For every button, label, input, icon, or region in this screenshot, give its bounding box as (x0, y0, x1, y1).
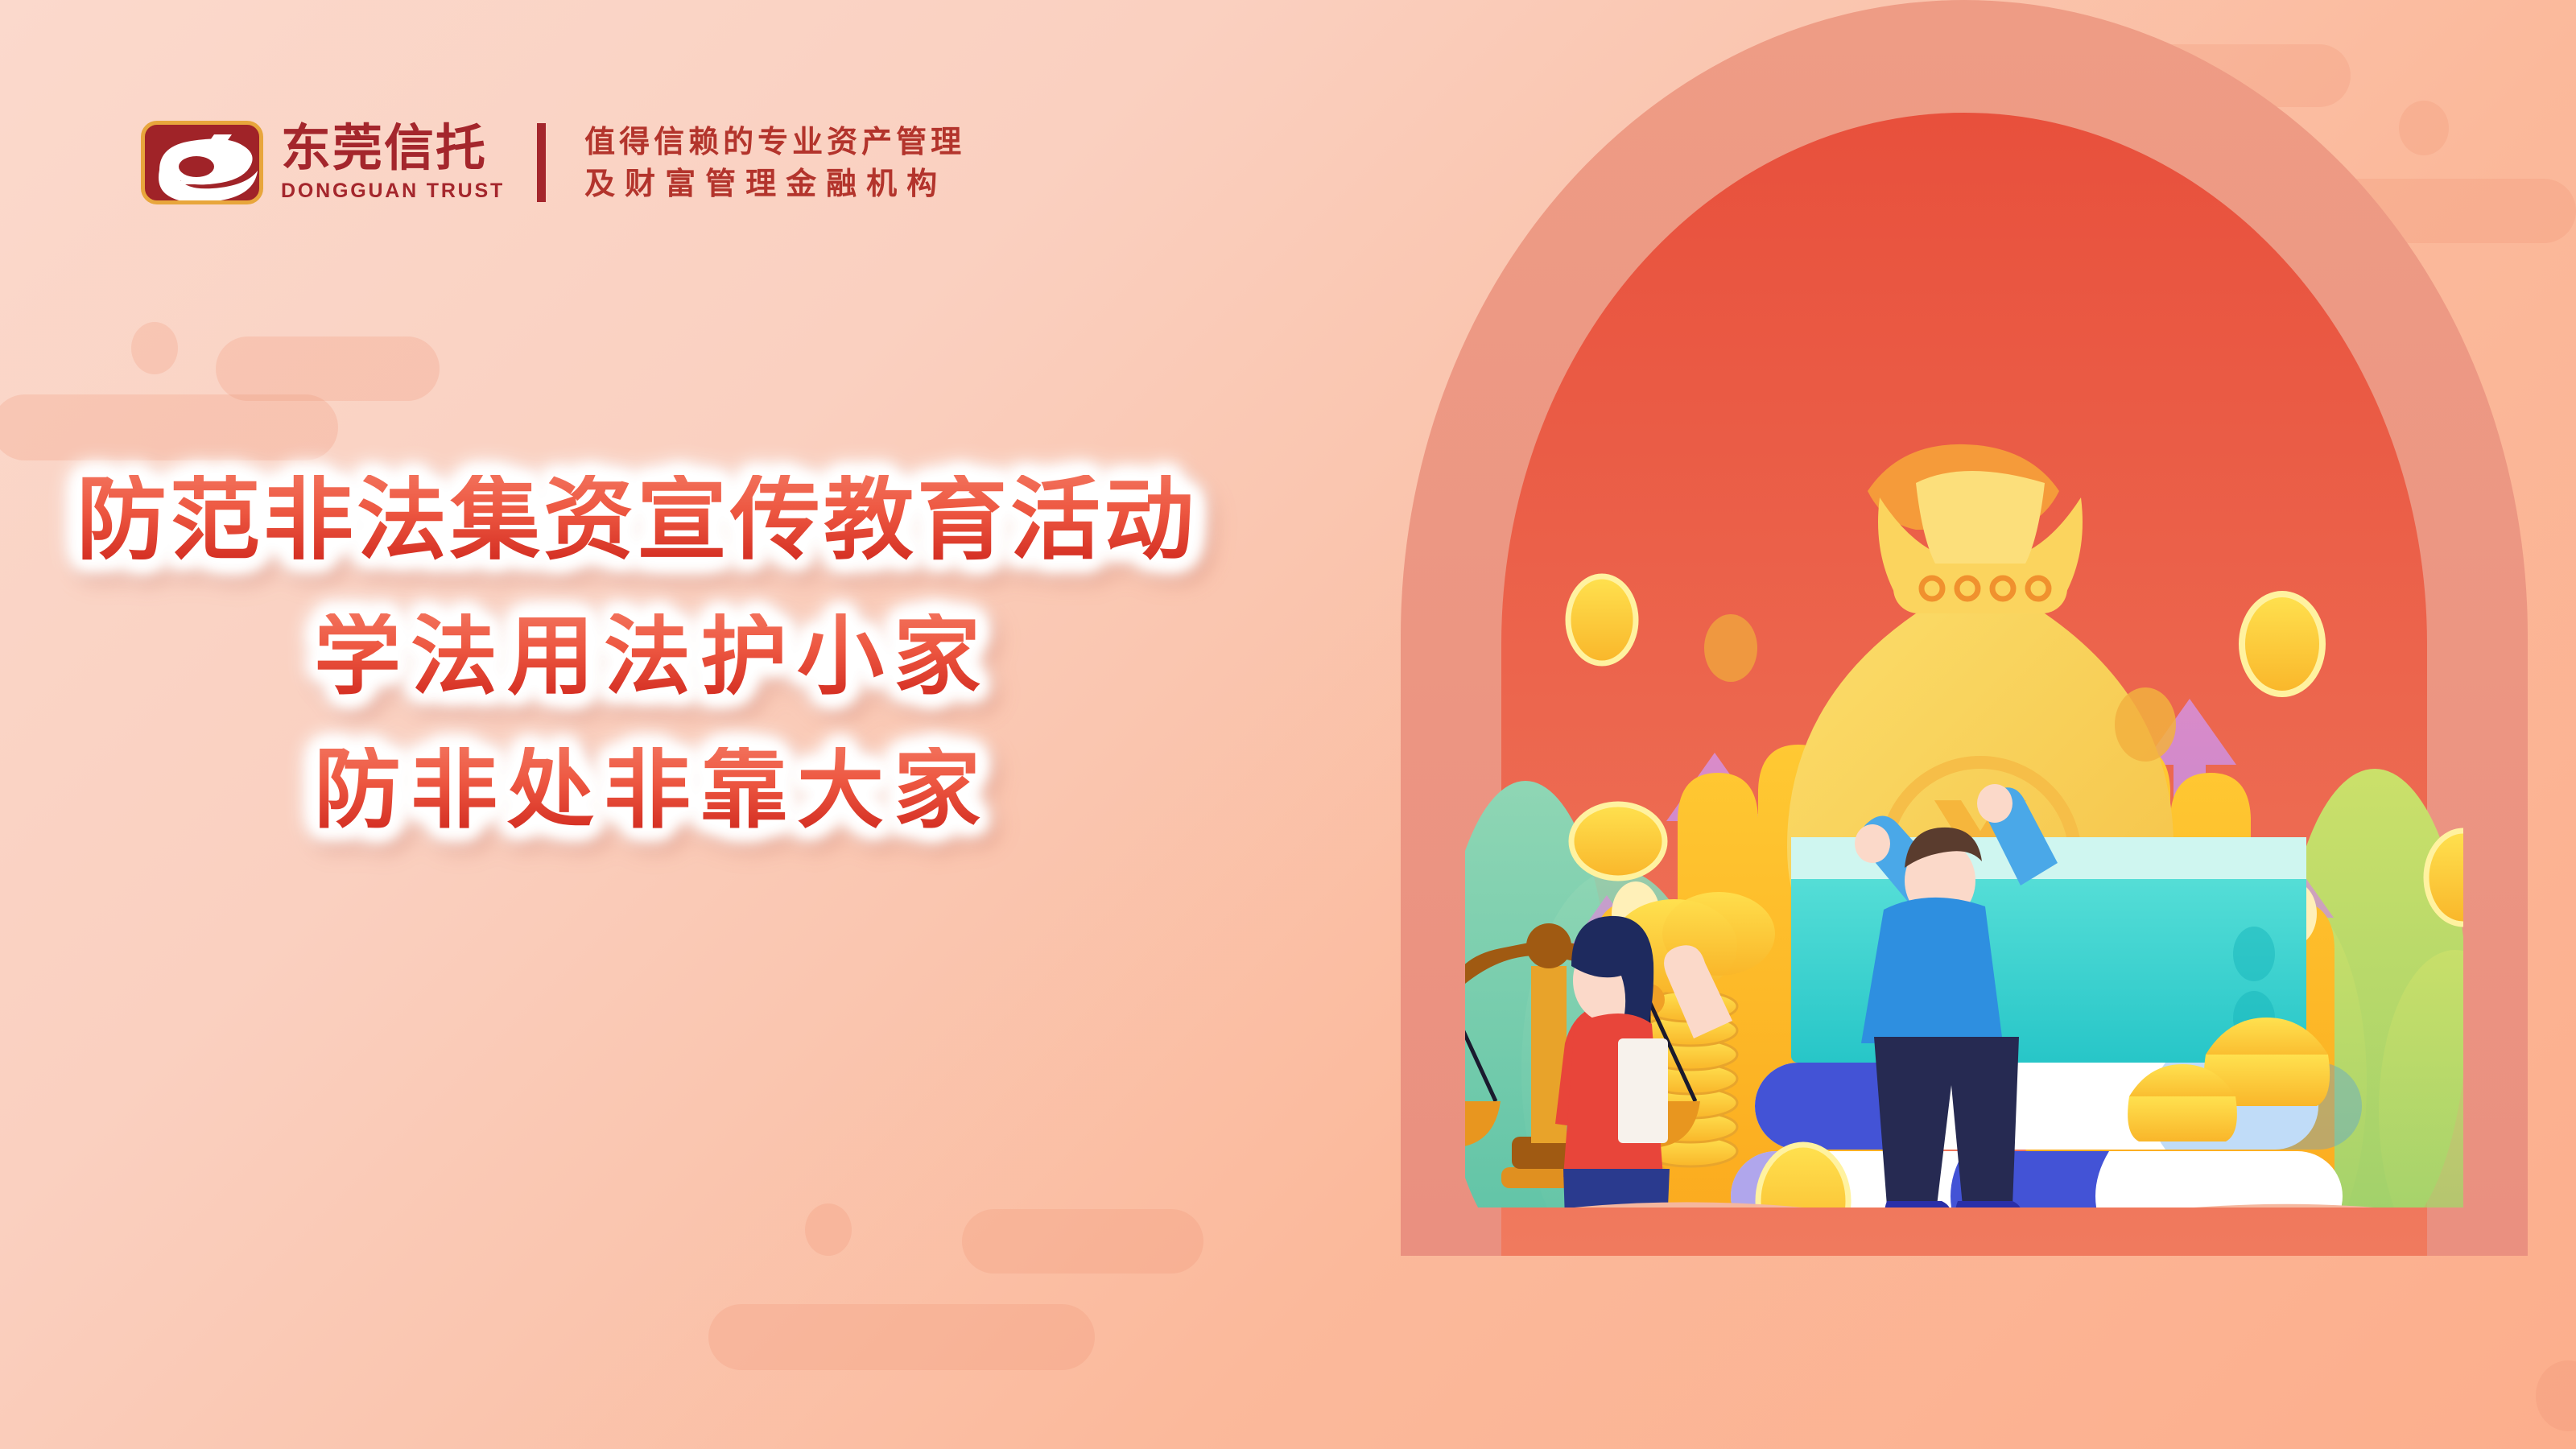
dot-right-edge (2536, 1360, 2576, 1431)
pill-lower-mid-b (708, 1304, 1095, 1370)
headline-line-1: 防范非法集资宣传教育活动 (76, 475, 1368, 565)
brand-wordmark: 东莞信托 DONGGUAN TRUST (281, 122, 505, 202)
brand-logo-block: 东莞信托 DONGGUAN TRUST 值得信赖的专业资产管理 及财富管理金融机… (141, 121, 965, 204)
dongguan-trust-monogram-icon (141, 121, 263, 204)
pill-lower-mid-a (962, 1209, 1203, 1274)
dot-upper-left (131, 322, 178, 374)
brand-name-en: DONGGUAN TRUST (281, 180, 505, 203)
tagline-line-1: 值得信赖的专业资产管理 (584, 126, 965, 157)
logo-divider (537, 123, 546, 202)
illustration: ¥ (1352, 0, 2576, 1320)
headline-block: 防范非法集资宣传教育活动 学法用法护小家 防非处非靠大家 (0, 475, 1368, 834)
promo-banner: ¥ (0, 0, 2576, 1449)
brand-tagline: 值得信赖的专业资产管理 及财富管理金融机构 (584, 126, 965, 199)
pill-upper-left-b (0, 394, 338, 460)
dot-lower-left (805, 1203, 852, 1256)
pill-upper-left-a (216, 336, 440, 401)
headline-line-2: 学法用法护小家 (314, 613, 1368, 700)
headline-line-3: 防非处非靠大家 (314, 747, 1368, 834)
tagline-line-2: 及财富管理金融机构 (584, 168, 965, 199)
brand-name-cn: 东莞信托 (281, 122, 505, 173)
